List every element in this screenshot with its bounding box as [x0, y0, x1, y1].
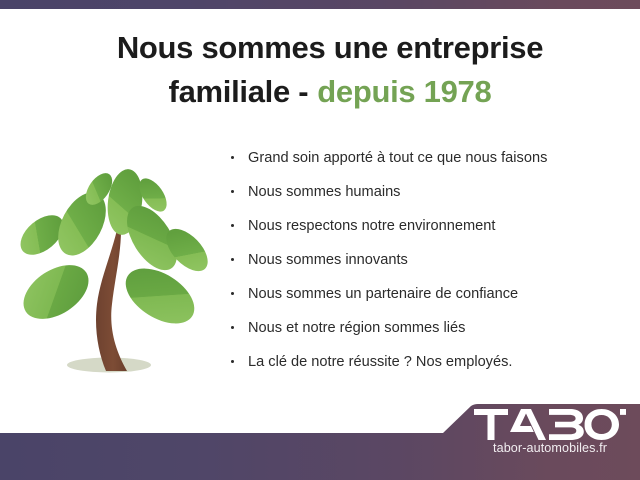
tree-leaf: [14, 254, 98, 330]
logo-website-url[interactable]: tabor-automobiles.fr: [470, 441, 630, 455]
tabor-wordmark-logo: [474, 409, 626, 440]
tree-illustration: [14, 162, 222, 384]
bullet-dot-icon: [231, 360, 234, 363]
headline-line-2-black: familiale -: [169, 74, 309, 109]
bullet-dot-icon: [231, 190, 234, 193]
headline-line-2: familiale -depuis 1978: [50, 70, 610, 114]
list-item: Nous respectons notre environnement: [228, 218, 628, 236]
bullet-dot-icon: [231, 224, 234, 227]
list-item-label: Nous sommes un partenaire de confiance: [248, 286, 518, 302]
bullet-dot-icon: [231, 258, 234, 261]
list-item-label: Grand soin apporté à tout ce que nous fa…: [248, 150, 547, 166]
bullet-dot-icon: [231, 156, 234, 159]
page-title: Nous sommes une entreprise familiale -de…: [50, 26, 610, 114]
headline-line-2-accent: depuis 1978: [317, 74, 491, 109]
list-item-label: Nous et notre région sommes liés: [248, 320, 465, 336]
list-item: Grand soin apporté à tout ce que nous fa…: [228, 150, 628, 168]
list-item: La clé de notre réussite ? Nos employés.: [228, 354, 628, 372]
list-item: Nous sommes innovants: [228, 252, 628, 270]
bullet-dot-icon: [231, 326, 234, 329]
list-item: Nous sommes un partenaire de confiance: [228, 286, 628, 304]
list-item: Nous et notre région sommes liés: [228, 320, 628, 338]
bullet-dot-icon: [231, 292, 234, 295]
top-accent-strip: [0, 0, 640, 9]
list-item-label: La clé de notre réussite ? Nos employés.: [248, 354, 512, 370]
value-proposition-list: Grand soin apporté à tout ce que nous fa…: [228, 150, 628, 388]
list-item-label: Nous respectons notre environnement: [248, 218, 495, 234]
headline-line-1: Nous sommes une entreprise: [50, 26, 610, 70]
slide-canvas: Nous sommes une entreprise familiale -de…: [0, 0, 640, 480]
list-item: Nous sommes humains: [228, 184, 628, 202]
tree-trunk: [96, 230, 127, 371]
list-item-label: Nous sommes innovants: [248, 252, 408, 268]
brand-logo[interactable]: tabor-automobiles.fr: [470, 409, 630, 455]
list-item-label: Nous sommes humains: [248, 184, 400, 200]
